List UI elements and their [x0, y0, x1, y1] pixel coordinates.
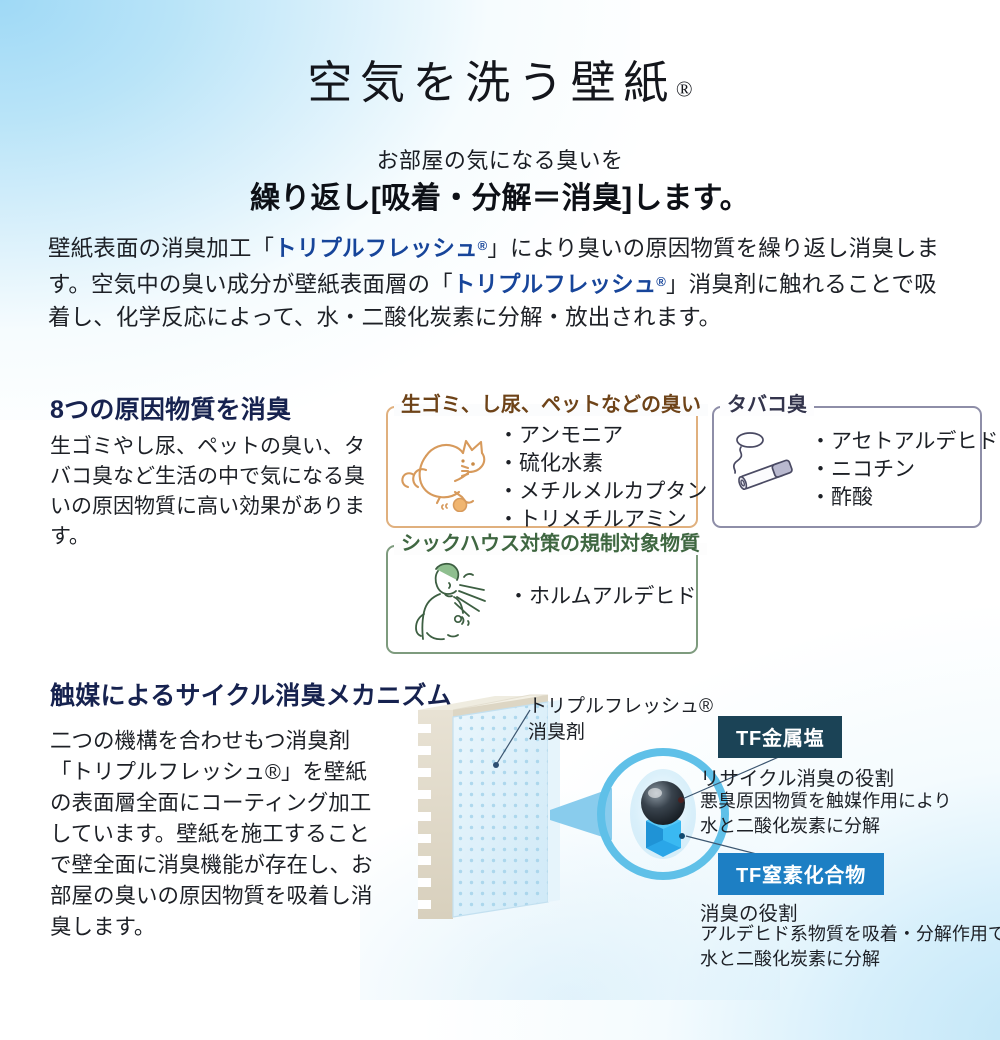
list-item: ・トリメチルアミン [498, 506, 707, 534]
coughing-person-icon [402, 557, 506, 643]
section-a-heading: 8つの原因物質を消臭 [50, 390, 291, 426]
page-title-text: 空気を洗う壁紙 [307, 58, 676, 108]
odor-box-waste: 生ゴミ、し尿、ペットなどの臭い ・アンモ [386, 406, 698, 528]
section-b-paragraph: 二つの機構を合わせもつ消臭剤「トリプルフレッシュ®」を壁紙の表面層全面にコーティ… [50, 726, 380, 943]
lead-paragraph: 壁紙表面の消臭加工「トリプルフレッシュ®」により臭いの原因物質を繰り返し消臭しま… [48, 229, 954, 334]
callout-metal-body: 悪臭原因物質を触媒作用により 水と二酸化炭素に分解 [700, 789, 952, 839]
badge-tf-metal-salt: TF金属塩 [718, 716, 842, 758]
list-item: ・硫化水素 [498, 450, 707, 478]
list-item: ・アンモニア [498, 422, 707, 450]
callout-nitrogen-body-line-2: 水と二酸化炭素に分解 [700, 947, 1000, 972]
odor-box-waste-legend: 生ゴミ、し尿、ペットなどの臭い [394, 394, 708, 416]
callout-metal-body-line-2: 水と二酸化炭素に分解 [700, 814, 952, 839]
lead-part-1: 壁紙表面の消臭加工「 [48, 236, 274, 261]
callout-metal-body-line-1: 悪臭原因物質を触媒作用により [700, 789, 952, 814]
odor-mechanism-diagram: トリプルフレッシュ® 消臭剤 TF金属塩 リサイクル消臭の役割 悪臭原因物質を触… [400, 690, 1000, 990]
brand-name-2: トリプルフレッシュ® [453, 272, 666, 297]
subtitle-line-1: お部屋の気になる臭いを [0, 143, 1000, 175]
brand-name-1: トリプルフレッシュ® [274, 236, 487, 261]
section-a-paragraph: 生ゴミやし尿、ペットの臭い、タバコ臭など生活の中で気になる臭いの原因物質に高い効… [50, 432, 368, 552]
coating-label-line-1: トリプルフレッシュ® [528, 694, 713, 720]
odor-box-tobacco: タバコ臭 ・アセトアルデヒド ・ニコチン ・酢酸 [712, 406, 982, 528]
metal-salt-sphere-icon [641, 781, 685, 825]
callout-nitrogen-body-line-1: アルデヒド系物質を吸着・分解作用で [700, 922, 1000, 947]
list-item: ・ニコチン [810, 456, 998, 484]
callout-metal-title: リサイクル消臭の役割 [700, 762, 894, 791]
odor-box-tobacco-items: ・アセトアルデヒド ・ニコチン ・酢酸 [810, 428, 998, 512]
cat-icon [400, 430, 496, 512]
page-title: 空気を洗う壁紙® [0, 46, 1000, 111]
list-item: ・メチルメルカプタン [498, 478, 707, 506]
callout-nitrogen-body: アルデヒド系物質を吸着・分解作用で 水と二酸化炭素に分解 [700, 922, 1000, 972]
odor-box-sickhouse: シックハウス対策の規制対象物質 ・ホルムアルデヒド [386, 545, 698, 654]
subtitle-line-2: 繰り返し[吸着・分解＝消臭]します。 [0, 173, 1000, 217]
coating-label: トリプルフレッシュ® 消臭剤 [528, 694, 713, 746]
list-item: ・ホルムアルデヒド [508, 583, 696, 611]
odor-box-sickhouse-items: ・ホルムアルデヒド [508, 583, 696, 611]
odor-box-waste-items: ・アンモニア ・硫化水素 ・メチルメルカプタン ・トリメチルアミン [498, 422, 707, 534]
badge-tf-nitrogen-compound: TF窒素化合物 [718, 853, 884, 895]
odor-box-tobacco-legend: タバコ臭 [720, 394, 814, 416]
cigarette-icon [722, 430, 806, 502]
odor-box-sickhouse-legend: シックハウス対策の規制対象物質 [394, 533, 707, 555]
coating-label-line-2: 消臭剤 [528, 720, 713, 746]
list-item: ・酢酸 [810, 484, 998, 512]
registered-mark: ® [676, 76, 693, 101]
section-b-heading: 触媒によるサイクル消臭メカニズム [50, 676, 452, 712]
list-item: ・アセトアルデヒド [810, 428, 998, 456]
